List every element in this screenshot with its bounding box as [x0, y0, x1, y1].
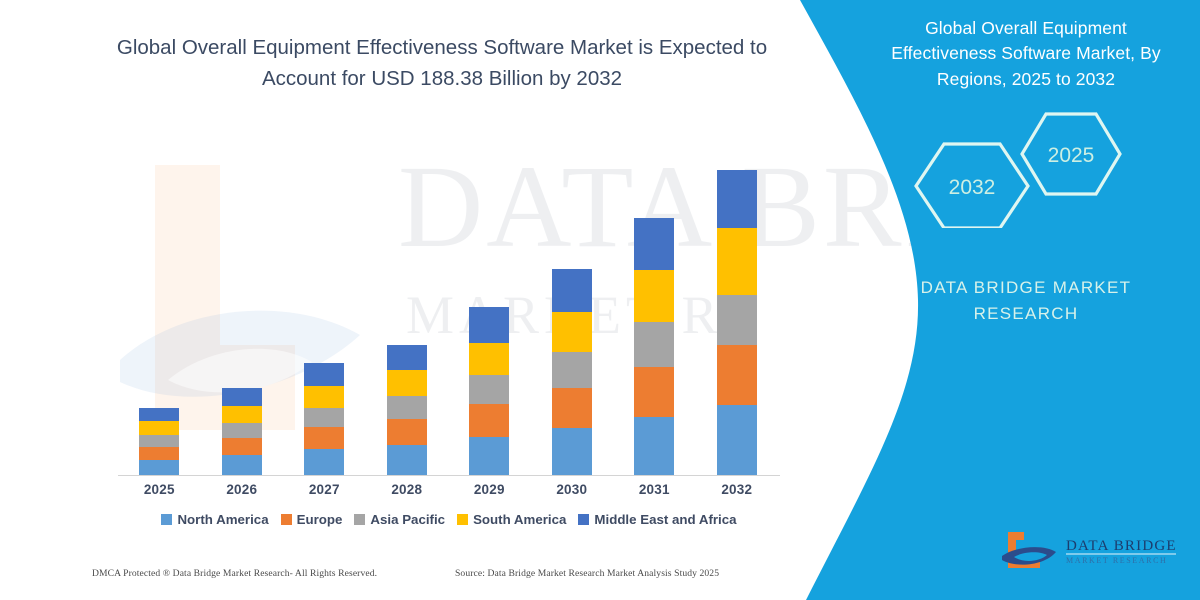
bar-2032 [717, 170, 757, 475]
bar-segment [222, 423, 262, 438]
bar-segment [717, 228, 757, 295]
legend-item[interactable]: North America [161, 512, 268, 527]
right-blue-panel: Global Overall Equipment Effectiveness S… [780, 0, 1200, 600]
dbmr-logo-mark-icon [1002, 532, 1056, 568]
bar-segment [304, 427, 344, 449]
bar-2026 [222, 388, 262, 475]
bar-2029 [469, 307, 509, 475]
bar-segment [139, 460, 179, 475]
bar-segment [387, 345, 427, 370]
legend-label: Asia Pacific [370, 512, 445, 527]
x-axis-label: 2028 [377, 482, 437, 497]
x-axis-labels: 20252026202720282029203020312032 [118, 482, 778, 497]
bar-segment [552, 388, 592, 428]
bar-segment [469, 404, 509, 437]
bar-segment [387, 419, 427, 445]
legend-item[interactable]: Asia Pacific [354, 512, 445, 527]
x-axis-label: 2032 [707, 482, 767, 497]
x-axis-label: 2027 [294, 482, 354, 497]
bar-segment [717, 345, 757, 405]
hexagon-2032-label: 2032 [949, 176, 996, 199]
bar-2030 [552, 269, 592, 475]
bar-segment [139, 435, 179, 447]
bar-segment [469, 437, 509, 475]
bar-2027 [304, 363, 344, 475]
bar-segment [304, 386, 344, 408]
bar-segment [387, 370, 427, 396]
legend-swatch-icon [281, 514, 292, 525]
x-axis-label: 2025 [129, 482, 189, 497]
x-axis-label: 2030 [542, 482, 602, 497]
bar-segment [304, 363, 344, 386]
dbmr-logo-subtitle: MARKET RESEARCH [1066, 556, 1167, 565]
dbmr-logo-title: DATA BRIDGE [1066, 538, 1177, 554]
year-hexagons: 2025 2032 [896, 108, 1136, 228]
bar-segment [222, 406, 262, 423]
legend-swatch-icon [354, 514, 365, 525]
panel-brand-line2: RESEARCH [876, 301, 1176, 327]
legend-item[interactable]: Europe [281, 512, 343, 527]
panel-brand: DATA BRIDGE MARKET RESEARCH [876, 275, 1176, 328]
bar-segment [634, 367, 674, 417]
legend-swatch-icon [457, 514, 468, 525]
bar-2031 [634, 218, 674, 475]
legend-label: Europe [297, 512, 343, 527]
hexagon-2025-label: 2025 [1048, 144, 1095, 167]
bar-segment [552, 312, 592, 352]
bar-segment [634, 417, 674, 475]
bar-segment [387, 396, 427, 419]
bar-segment [717, 170, 757, 228]
bar-segment [469, 343, 509, 375]
bar-2025 [139, 408, 179, 475]
bar-2028 [387, 345, 427, 475]
bar-segment [717, 405, 757, 475]
bar-chart-bars [118, 150, 778, 475]
bar-segment [717, 295, 757, 345]
legend-item[interactable]: Middle East and Africa [578, 512, 736, 527]
bar-segment [139, 421, 179, 435]
legend-label: South America [473, 512, 566, 527]
bar-segment [222, 455, 262, 475]
x-axis-label: 2031 [624, 482, 684, 497]
footer-copyright: DMCA Protected ® Data Bridge Market Rese… [92, 568, 377, 579]
bar-segment [387, 445, 427, 475]
bar-segment [469, 307, 509, 343]
bar-segment [304, 408, 344, 427]
bar-segment [634, 322, 674, 367]
bar-segment [139, 408, 179, 421]
bar-segment [469, 375, 509, 404]
bar-segment [304, 449, 344, 475]
bar-segment [634, 270, 674, 322]
bar-segment [552, 269, 592, 312]
chart-legend: North AmericaEuropeAsia PacificSouth Ame… [118, 512, 780, 527]
infographic-canvas: DATA BRI MARKET RE Global Overall Equipm… [0, 0, 1200, 600]
bar-segment [634, 218, 674, 270]
bar-segment [222, 438, 262, 455]
legend-label: Middle East and Africa [594, 512, 736, 527]
panel-title: Global Overall Equipment Effectiveness S… [876, 16, 1176, 92]
bar-segment [222, 388, 262, 406]
page-title: Global Overall Equipment Effectiveness S… [92, 32, 792, 94]
bar-segment [552, 428, 592, 475]
x-axis-label: 2026 [212, 482, 272, 497]
panel-brand-line1: DATA BRIDGE MARKET [876, 275, 1176, 301]
legend-label: North America [177, 512, 268, 527]
legend-swatch-icon [578, 514, 589, 525]
bar-segment [139, 447, 179, 460]
chart-axis-line [118, 475, 780, 476]
x-axis-label: 2029 [459, 482, 519, 497]
legend-swatch-icon [161, 514, 172, 525]
bar-segment [552, 352, 592, 388]
legend-item[interactable]: South America [457, 512, 566, 527]
dbmr-logo: DATA BRIDGE MARKET RESEARCH [1000, 530, 1180, 576]
footer-source: Source: Data Bridge Market Research Mark… [455, 568, 719, 579]
